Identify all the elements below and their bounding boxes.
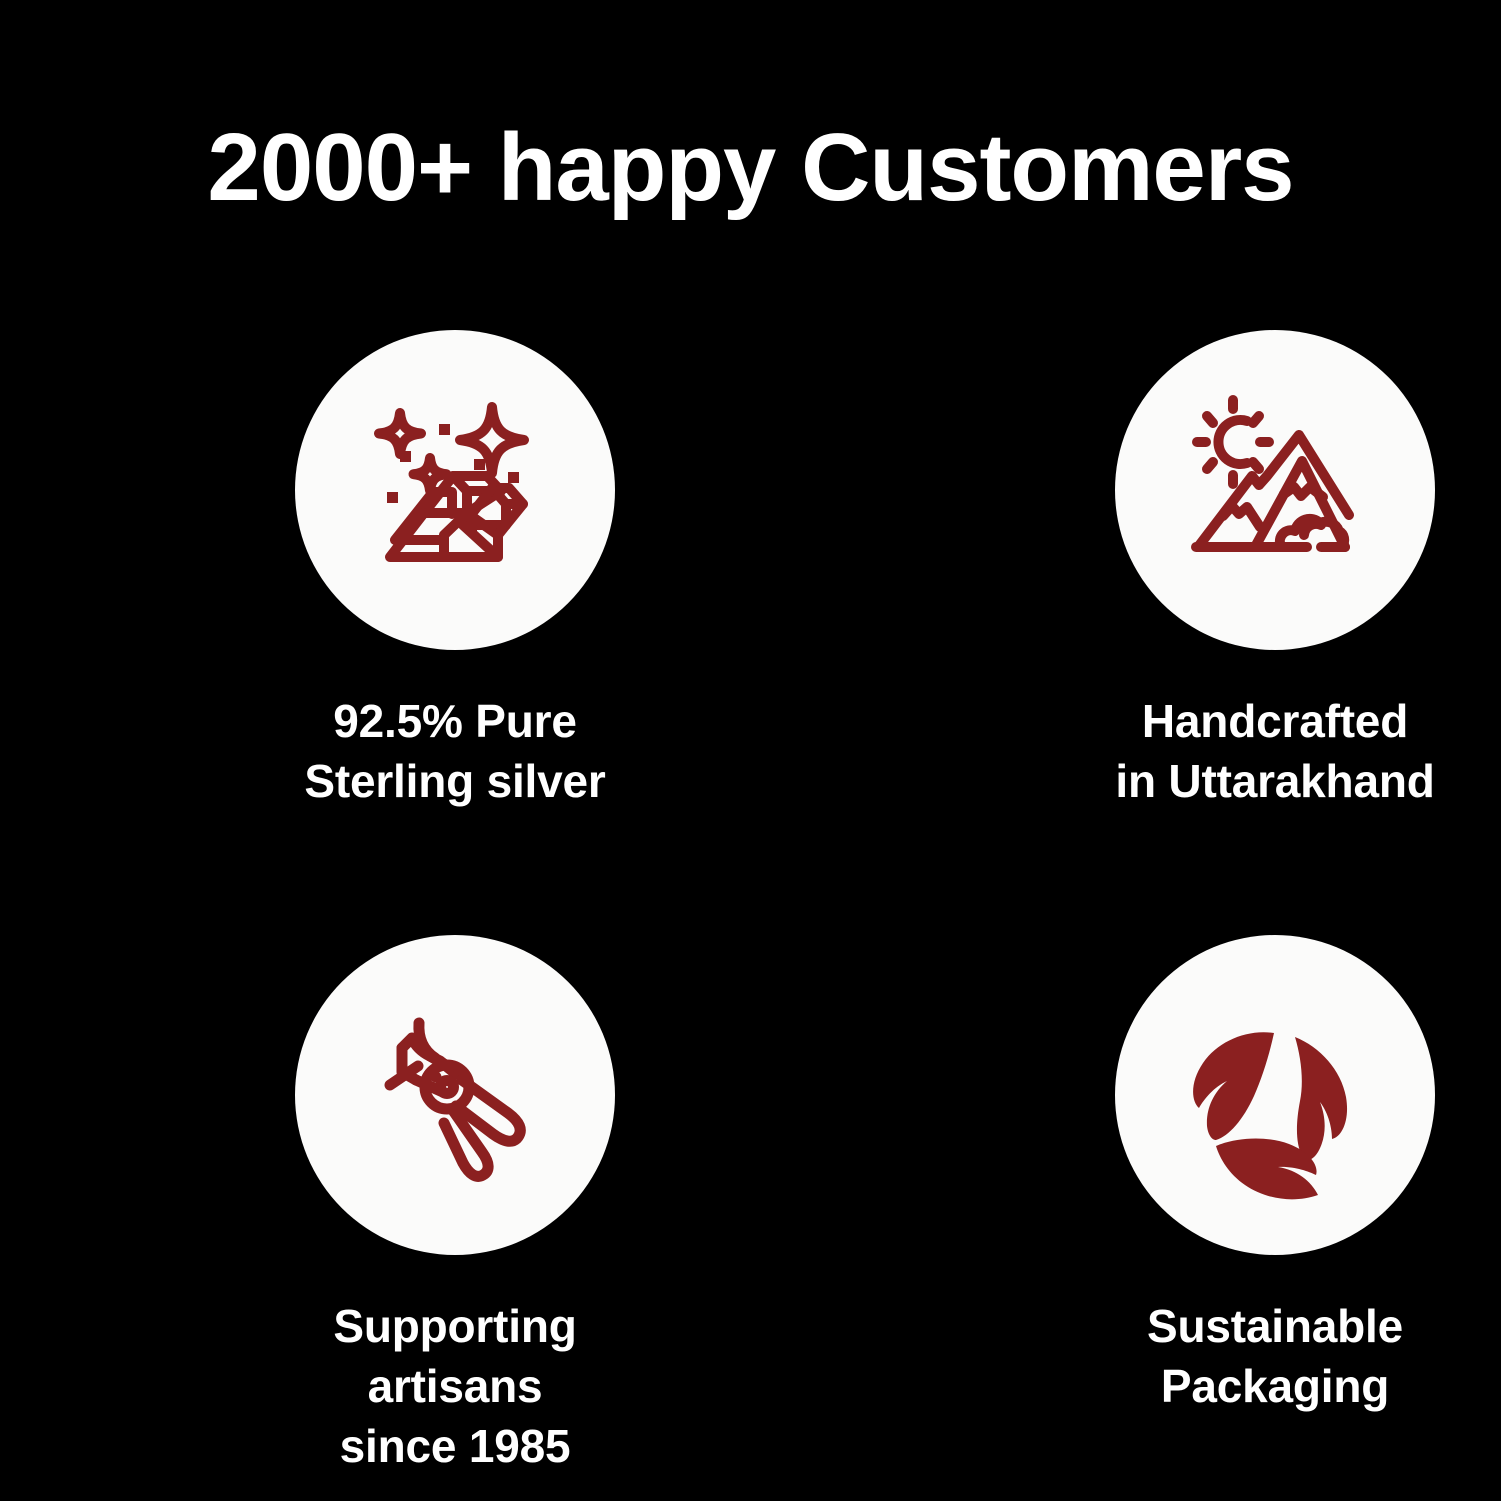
promo-card: 2000+ happy Customers (0, 0, 1501, 1501)
icon-circle-handcrafted (1115, 330, 1435, 650)
jewelry-pliers-icon (340, 980, 570, 1210)
three-leaves-recycle-icon (1169, 989, 1381, 1201)
feature-item-supporting-artisans: Supporting artisans since 1985 (0, 935, 750, 1476)
icon-circle-supporting-artisans (295, 935, 615, 1255)
feature-label-line2: since 1985 (245, 1417, 665, 1477)
feature-label-line2: Packaging (1065, 1357, 1485, 1417)
feature-label-sustainable-packaging: Sustainable Packaging (1065, 1297, 1485, 1417)
feature-item-sustainable-packaging: Sustainable Packaging (750, 935, 1501, 1476)
feature-label-line1: Handcrafted (1065, 692, 1485, 752)
page-title: 2000+ happy Customers (0, 118, 1501, 219)
feature-item-handcrafted: Handcrafted in Uttarakhand (750, 330, 1501, 935)
icon-circle-sustainable-packaging (1115, 935, 1435, 1255)
feature-label-line1: 92.5% Pure (245, 692, 665, 752)
feature-label-line2: in Uttarakhand (1065, 752, 1485, 812)
feature-grid: 92.5% Pure Sterling silver (0, 330, 1501, 1476)
feature-label-supporting-artisans: Supporting artisans since 1985 (245, 1297, 665, 1476)
mountains-sun-icon (1160, 375, 1390, 605)
feature-label-line1: Supporting artisans (245, 1297, 665, 1417)
feature-label-sterling-silver: 92.5% Pure Sterling silver (245, 692, 665, 812)
icon-circle-sterling-silver (295, 330, 615, 650)
feature-item-sterling-silver: 92.5% Pure Sterling silver (0, 330, 750, 935)
silver-bars-icon (340, 375, 570, 605)
feature-label-line1: Sustainable (1065, 1297, 1485, 1357)
feature-label-line2: Sterling silver (245, 752, 665, 812)
feature-label-handcrafted: Handcrafted in Uttarakhand (1065, 692, 1485, 812)
